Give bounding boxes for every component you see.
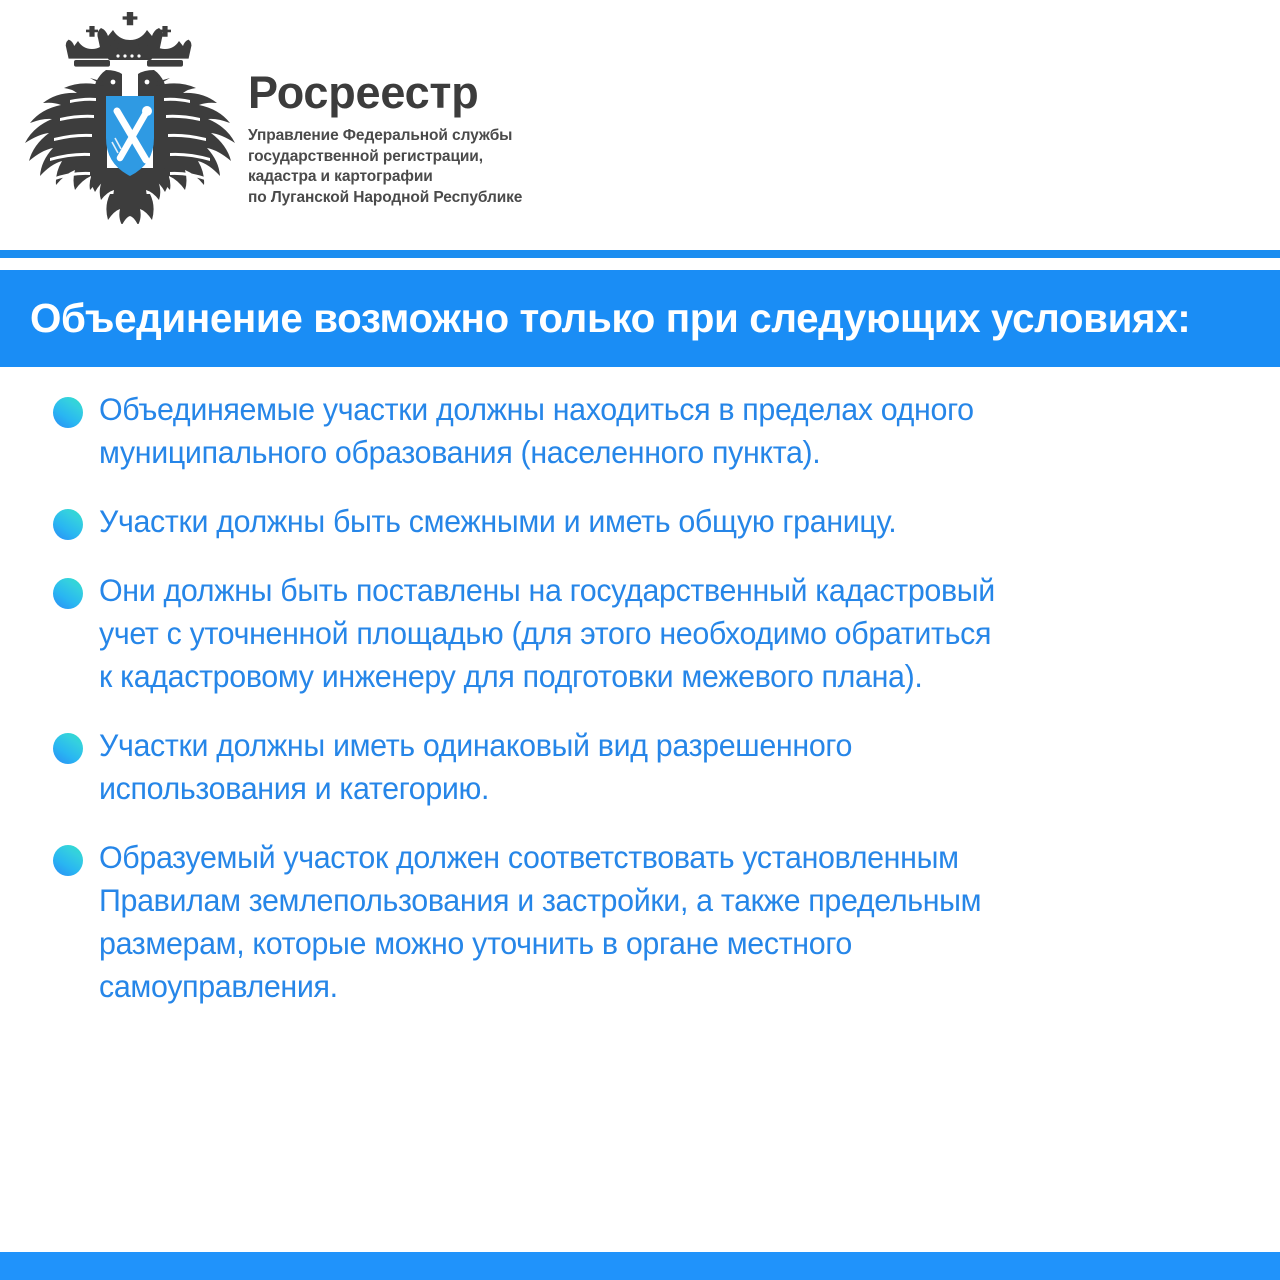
headline-banner: Объединение возможно только при следующи… [0, 270, 1280, 367]
header-divider-rule [0, 250, 1280, 258]
list-item-text: Участки должны иметь одинаковый вид разр… [99, 724, 1200, 810]
rosreestr-logo-lockup: Росреестр Управление Федеральной службы … [18, 8, 522, 224]
list-item: Объединяемые участки должны находиться в… [0, 388, 1280, 474]
subtitle-line-2: государственной регистрации, [248, 147, 522, 168]
list-item-text: Участки должны быть смежными и иметь общ… [99, 500, 1200, 543]
list-item: Участки должны быть смежными и иметь общ… [0, 500, 1280, 543]
list-item-text: Объединяемые участки должны находиться в… [99, 388, 1200, 474]
infographic-page: Росреестр Управление Федеральной службы … [0, 0, 1280, 1280]
gradient-dot-bullet-icon [53, 509, 83, 540]
list-item: Участки должны иметь одинаковый вид разр… [0, 724, 1280, 810]
gradient-dot-bullet-icon [53, 845, 83, 876]
brand-subtitle: Управление Федеральной службы государств… [248, 126, 522, 208]
brand-wordmark: Росреестр [248, 70, 522, 115]
subtitle-line-4: по Луганской Народной Республике [248, 188, 522, 209]
page-title: Объединение возможно только при следующи… [30, 295, 1190, 342]
conditions-list: Объединяемые участки должны находиться в… [0, 388, 1280, 1008]
list-item: Они должны быть поставлены на государств… [0, 569, 1280, 698]
list-item-text: Образуемый участок должен соответствоват… [99, 836, 1200, 1008]
page-header: Росреестр Управление Федеральной службы … [0, 0, 1280, 250]
gradient-dot-bullet-icon [53, 578, 83, 609]
wordmark-block: Росреестр Управление Федеральной службы … [248, 8, 522, 208]
double-headed-eagle-emblem [18, 8, 242, 224]
list-item-text: Они должны быть поставлены на государств… [99, 569, 1200, 698]
footer-bar [0, 1252, 1280, 1280]
subtitle-line-3: кадастра и картографии [248, 167, 522, 188]
subtitle-line-1: Управление Федеральной службы [248, 126, 522, 147]
gradient-dot-bullet-icon [53, 397, 83, 428]
list-item: Образуемый участок должен соответствоват… [0, 836, 1280, 1008]
gradient-dot-bullet-icon [53, 733, 83, 764]
